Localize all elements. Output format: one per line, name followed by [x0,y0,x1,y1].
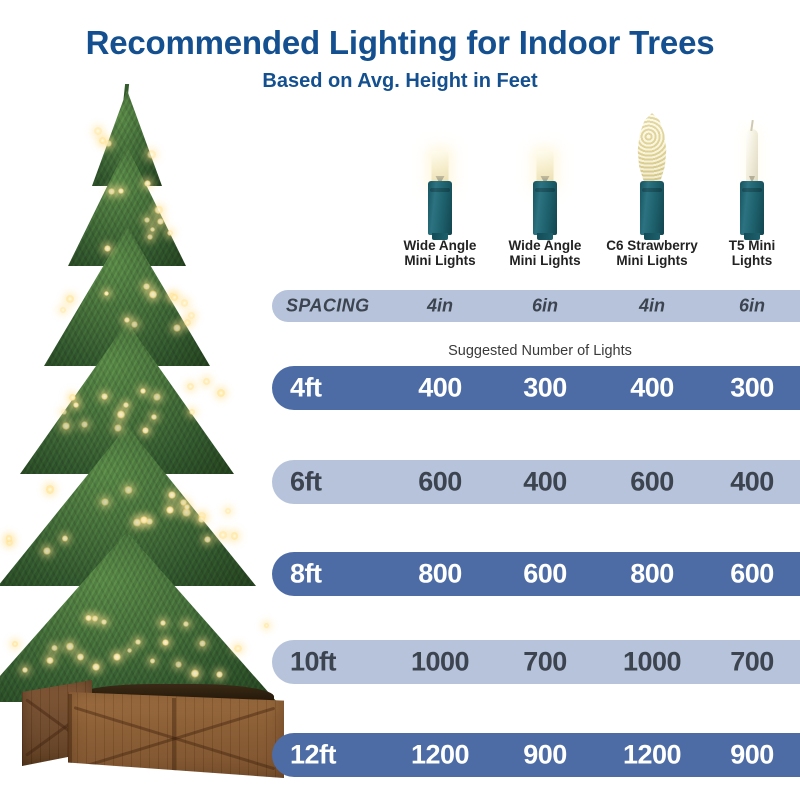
row-value-col3: 1000 [623,647,681,678]
tree-light-bulb [143,283,150,290]
spacing-value-col4: 6in [739,296,765,317]
wooden-planter-box [22,674,284,786]
tree-light-bulb [124,317,130,323]
column-header-t5-mini-6in: T5 Mini Lights [693,238,800,268]
row-value-col3: 800 [630,559,674,590]
bulb-icon-cell-4 [697,96,800,241]
bulb-cap [533,181,557,235]
c6-strawberry-bulb-icon [632,103,672,235]
row-value-col4: 400 [730,467,774,498]
tree-light-bulb [43,547,52,556]
tree-light-bulb [22,667,28,673]
bulb-icon-cell-1 [385,96,495,241]
row-value-col3: 400 [630,373,674,404]
spacing-value-col1: 4in [427,296,453,317]
table-row: 8ft 800 600 800 600 [272,552,800,596]
tree-light-bulb [60,307,66,313]
column-header-wide-angle-6in: Wide Angle Mini Lights [486,238,604,268]
bulb-icon-row [0,96,800,241]
tree-light-bulb [73,402,79,408]
tree-light-bulb [225,508,231,514]
tree-light-bulb [184,504,190,510]
tree-light-bulb [113,653,121,661]
tree-light-bulb [183,621,189,627]
tree-light-bulb [142,427,149,434]
bulb-icon-cell-3 [597,96,707,241]
tree-light-bulb [69,394,76,401]
tree-light-bulb [153,393,161,401]
planter-post [172,698,176,784]
tree-light-bulb [173,324,181,332]
bulb-glass [635,113,669,187]
wood-grain-texture [68,692,284,778]
row-value-col1: 1200 [411,740,469,771]
column-header-line1: T5 Mini [693,238,800,253]
tree-light-bulb [114,424,122,432]
tree-light-bulb [124,486,133,495]
tree-light-bulb [133,518,142,527]
tree-light-bulb [46,657,53,664]
tree-light-bulb [85,615,91,621]
tree-light-bulb [62,535,68,541]
tree-light-bulb [51,645,58,652]
tree-light-bulb [66,642,75,651]
tree-light-bulb [149,290,157,298]
bulb-cap [640,181,664,235]
row-value-col4: 300 [730,373,774,404]
tree-light-bulb [171,294,179,302]
tree-light-bulb [175,661,182,668]
column-header-line1: Wide Angle [381,238,499,253]
tree-light-bulb [117,410,126,419]
tree-light-bulb [62,422,70,430]
row-height-label: 10ft [290,647,336,678]
spacing-row-label: SPACING [286,296,369,317]
spacing-value-col2: 6in [532,296,558,317]
tree-light-bulb [231,532,239,540]
column-header-line1: Wide Angle [486,238,604,253]
bulb-glass [537,151,554,185]
row-height-label: 8ft [290,559,322,590]
planter-front-panel [68,692,284,778]
tree-light-bulb [204,536,211,543]
row-value-col4: 900 [730,740,774,771]
row-value-col4: 700 [730,647,774,678]
page-title: Recommended Lighting for Indoor Trees [0,24,800,62]
wide-angle-bulb-icon [420,103,460,235]
bulb-icon-cell-2 [490,96,600,241]
spacing-row: SPACING 4in 6in 4in 6in [272,290,800,322]
tree-light-bulb [92,615,99,622]
row-value-col2: 900 [523,740,567,771]
row-value-col1: 800 [418,559,462,590]
tree-light-bulb [160,620,166,626]
table-row: 12ft 1200 900 1200 900 [272,733,800,777]
row-value-col4: 600 [730,559,774,590]
wide-angle-bulb-icon [525,103,565,235]
row-height-label: 4ft [290,373,322,404]
tree-light-bulb [135,639,141,645]
tree-light-bulb [198,516,205,523]
tree-light-bulb [162,639,169,646]
tree-light-bulb [104,245,111,252]
column-header-line2: Mini Lights [486,253,604,268]
infographic-canvas: Recommended Lighting for Indoor Trees Ba… [0,0,800,800]
row-value-col1: 1000 [411,647,469,678]
column-header-line2: Mini Lights [381,253,499,268]
tree-light-bulb [168,491,176,499]
tree-light-bulb [66,295,74,303]
tree-light-bulb [140,388,146,394]
tree-light-bulb [146,518,153,525]
tree-light-bulb [189,409,196,416]
row-height-label: 6ft [290,467,322,498]
tree-light-bulb [184,319,191,326]
row-value-col2: 600 [523,559,567,590]
tree-light-bulb [81,421,88,428]
row-value-col2: 700 [523,647,567,678]
tree-light-bulb [123,402,129,408]
tree-light-bulb [150,658,156,664]
table-row: 10ft 1000 700 1000 700 [272,640,800,684]
row-value-col3: 1200 [623,740,681,771]
tree-light-bulb [188,312,195,319]
tree-light-bulb [101,619,107,625]
bulb-cap [740,181,764,235]
tree-light-bulb [12,641,18,647]
tree-light-bulb [151,414,156,419]
row-height-label: 12ft [290,740,336,771]
row-value-col2: 300 [523,373,567,404]
table-row: 6ft 600 400 600 400 [272,460,800,504]
tree-light-bulb [219,531,226,538]
tree-light-bulb [234,645,242,653]
tree-light-bulb [46,485,54,493]
table-caption: Suggested Number of Lights [280,343,800,359]
tree-light-bulb [217,389,225,397]
tree-light-bulb [127,648,133,654]
tree-light-bulb [104,291,109,296]
column-header-line2: Lights [693,253,800,268]
tree-light-bulb [92,663,100,671]
t5-mini-bulb-icon [732,103,772,235]
column-header-wide-angle-4in: Wide Angle Mini Lights [381,238,499,268]
tree-light-bulb [101,393,108,400]
bulb-glass [432,151,449,185]
row-value-col3: 600 [630,467,674,498]
tree-light-bulb [181,299,189,307]
planter-post [68,694,72,778]
tree-light-bulb [61,409,67,415]
tree-light-bulb [264,623,269,628]
tree-light-bulb [101,498,109,506]
tree-light-bulb [131,321,138,328]
spacing-value-col3: 4in [639,296,665,317]
bulb-glass [746,129,758,185]
bulb-cap [428,181,452,235]
tree-light-bulb [203,378,210,385]
row-value-col2: 400 [523,467,567,498]
table-row: 4ft 400 300 400 300 [272,366,800,410]
tree-light-bulb [187,383,194,390]
row-value-col1: 600 [418,467,462,498]
row-value-col1: 400 [418,373,462,404]
tree-light-bulb [77,653,85,661]
tree-light-bulb [166,506,173,513]
tree-light-bulb [199,640,206,647]
